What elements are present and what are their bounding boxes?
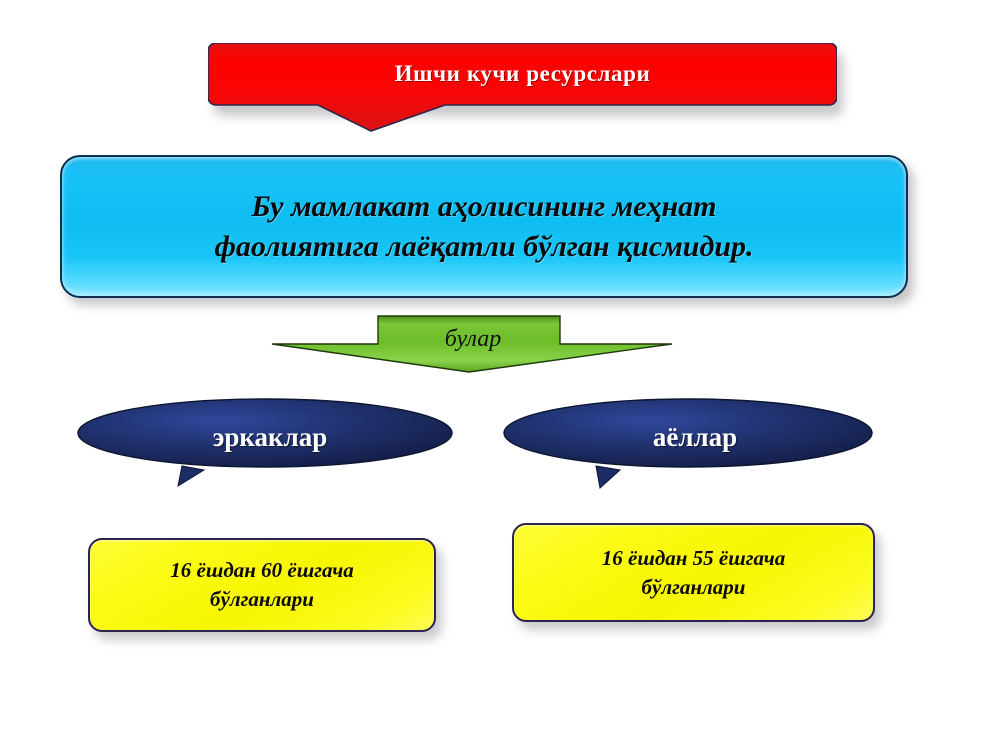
age-box-men[interactable]: 16 ёшдан 60 ёшгача бўлганлари <box>88 538 436 632</box>
age-box-women-line-2: бўлганлари <box>642 575 746 599</box>
age-box-men-line-2: бўлганлари <box>210 587 314 611</box>
definition-box-text: Бу мамлакат аҳолисининг меҳнат фаолиятиг… <box>188 187 779 266</box>
age-box-women-text: 16 ёшдан 55 ёшгача бўлганлари <box>588 544 799 602</box>
category-bubble-men[interactable] <box>74 394 464 492</box>
definition-line-1: Бу мамлакат аҳолисининг меҳнат <box>251 190 716 223</box>
title-banner[interactable]: Ишчи кучи ресурслари <box>208 43 837 133</box>
connector-arrow-shape <box>268 314 678 376</box>
category-bubble-men-shape <box>74 394 464 492</box>
definition-box[interactable]: Бу мамлакат аҳолисининг меҳнат фаолиятиг… <box>60 155 908 298</box>
connector-arrow-down-icon[interactable] <box>268 314 678 376</box>
age-box-women-line-1: 16 ёшдан 55 ёшгача <box>602 546 785 570</box>
age-box-women[interactable]: 16 ёшдан 55 ёшгача бўлганлари <box>512 523 875 622</box>
definition-line-2: фаолиятига лаёқатли бўлган қисмидир. <box>214 230 753 263</box>
slide-canvas: Ишчи кучи ресурслари Бу мамлакат аҳолиси… <box>0 0 1000 750</box>
category-bubble-women[interactable] <box>500 394 882 492</box>
age-box-men-line-1: 16 ёшдан 60 ёшгача <box>170 558 353 582</box>
title-banner-shape <box>208 43 837 133</box>
category-bubble-women-shape <box>500 394 882 492</box>
age-box-men-text: 16 ёшдан 60 ёшгача бўлганлари <box>156 556 367 614</box>
